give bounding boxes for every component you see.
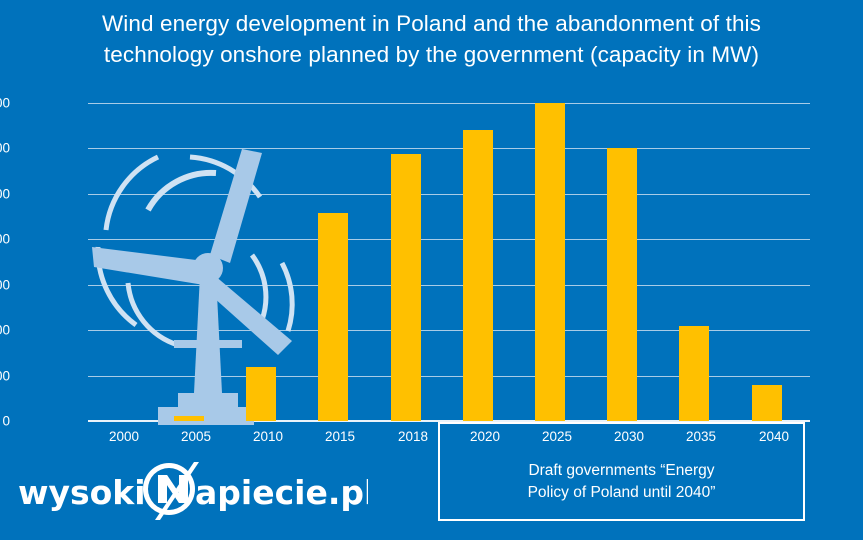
plot-area	[88, 103, 810, 421]
chart-container: Wind energy development in Poland and th…	[0, 0, 863, 540]
callout-line-2: Policy of Poland until 2040”	[440, 482, 803, 504]
site-logo[interactable]: wysokie apiecie.pl	[18, 462, 368, 520]
y-axis-tick-5000: 5000	[0, 186, 10, 201]
y-axis-tick-4000: 4000	[0, 232, 10, 247]
y-axis-tick-6000: 6000	[0, 141, 10, 156]
chart-title-line-2: technology onshore planned by the govern…	[0, 39, 863, 70]
bar-2020[interactable]	[463, 130, 493, 421]
chart-title-line-1: Wind energy development in Poland and th…	[0, 8, 863, 39]
logo-text-right: apiecie.pl	[195, 473, 368, 512]
bar-2035[interactable]	[679, 326, 709, 421]
y-axis-labels: 7000 6000 5000 4000 3000 2000 1000 0	[0, 0, 88, 540]
bar-2025[interactable]	[535, 103, 565, 421]
callout-box: Draft governments “Energy Policy of Pola…	[438, 422, 805, 521]
y-axis-tick-0: 0	[2, 414, 10, 429]
y-axis-tick-1000: 1000	[0, 368, 10, 383]
source-credit-container: Data: ERO, Ministry of Energy | November…	[839, 0, 863, 540]
bar-2015[interactable]	[318, 213, 348, 421]
bar-series	[88, 103, 810, 421]
chart-title: Wind energy development in Poland and th…	[0, 8, 863, 70]
bar-2030[interactable]	[607, 148, 637, 421]
callout-text: Draft governments “Energy Policy of Pola…	[440, 460, 803, 504]
bar-2018[interactable]	[391, 154, 421, 421]
bar-2040[interactable]	[752, 385, 782, 421]
y-axis-tick-2000: 2000	[0, 323, 10, 338]
callout-line-1: Draft governments “Energy	[440, 460, 803, 482]
y-axis-tick-7000: 7000	[0, 96, 10, 111]
bar-2005[interactable]	[174, 416, 204, 421]
y-axis-tick-3000: 3000	[0, 277, 10, 292]
bar-2010[interactable]	[246, 367, 276, 421]
